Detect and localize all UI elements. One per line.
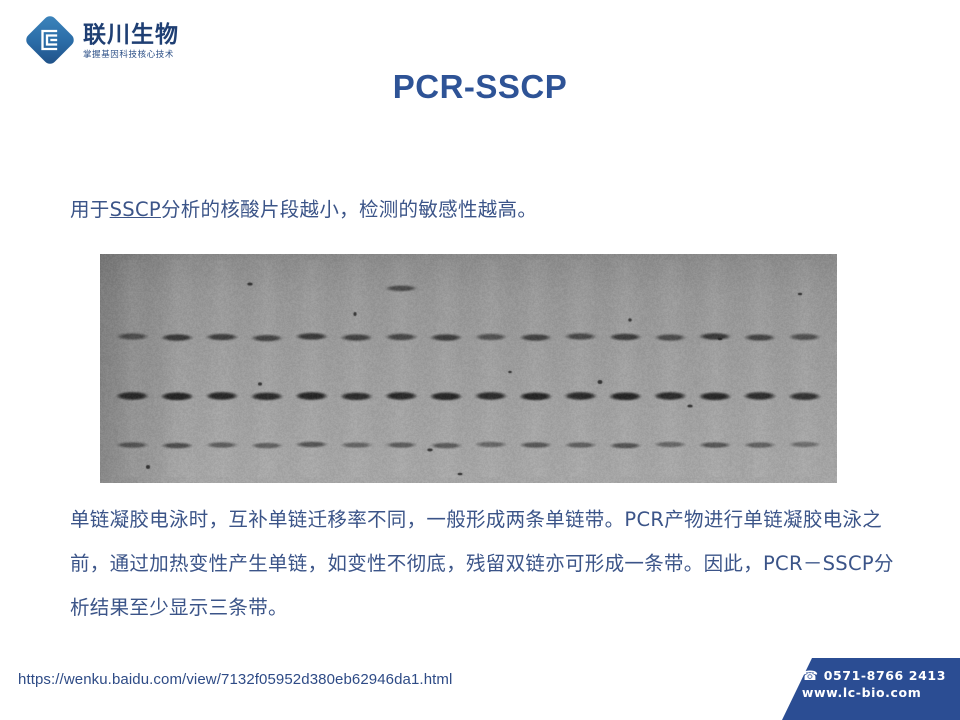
intro-text-before: 用于 — [70, 198, 110, 221]
brand-text-block: 联川生物 掌握基因科技核心技术 — [83, 20, 179, 59]
brand-tagline: 掌握基因科技核心技术 — [83, 49, 179, 59]
gel-image-canvas — [100, 254, 837, 483]
brand-logo: 联川生物 掌握基因科技核心技术 — [26, 16, 179, 64]
footer-website[interactable]: www.lc-bio.com — [802, 685, 921, 702]
intro-paragraph: 用于SSCP分析的核酸片段越小，检测的敏感性越高。 — [70, 188, 890, 232]
source-url[interactable]: https://wenku.baidu.com/view/7132f05952d… — [18, 671, 452, 688]
footer-website-line: www.lc-bio.com — [802, 685, 946, 702]
footer-contact-banner: ☎ 0571-8766 2413 www.lc-bio.com — [740, 658, 960, 720]
page-title: PCR-SSCP — [0, 68, 960, 106]
footer-phone: 0571-8766 2413 — [824, 668, 946, 685]
intro-text-after: 分析的核酸片段越小，检测的敏感性越高。 — [161, 198, 537, 221]
description-paragraph: 单链凝胶电泳时，互补单链迁移率不同，一般形成两条单链带。PCR产物进行单链凝胶电… — [70, 498, 900, 630]
phone-icon: ☎ — [802, 670, 819, 683]
footer-phone-line: ☎ 0571-8766 2413 — [802, 668, 946, 685]
sscp-link[interactable]: SSCP — [110, 198, 161, 221]
sscp-gel-electrophoresis-photo — [100, 254, 837, 483]
lc-bio-diamond-logo-icon — [26, 16, 74, 64]
footer-contact-text: ☎ 0571-8766 2413 www.lc-bio.com — [802, 668, 946, 702]
slide-canvas: 联川生物 掌握基因科技核心技术 PCR-SSCP 用于SSCP分析的核酸片段越小… — [0, 0, 960, 720]
brand-name: 联川生物 — [83, 22, 179, 46]
